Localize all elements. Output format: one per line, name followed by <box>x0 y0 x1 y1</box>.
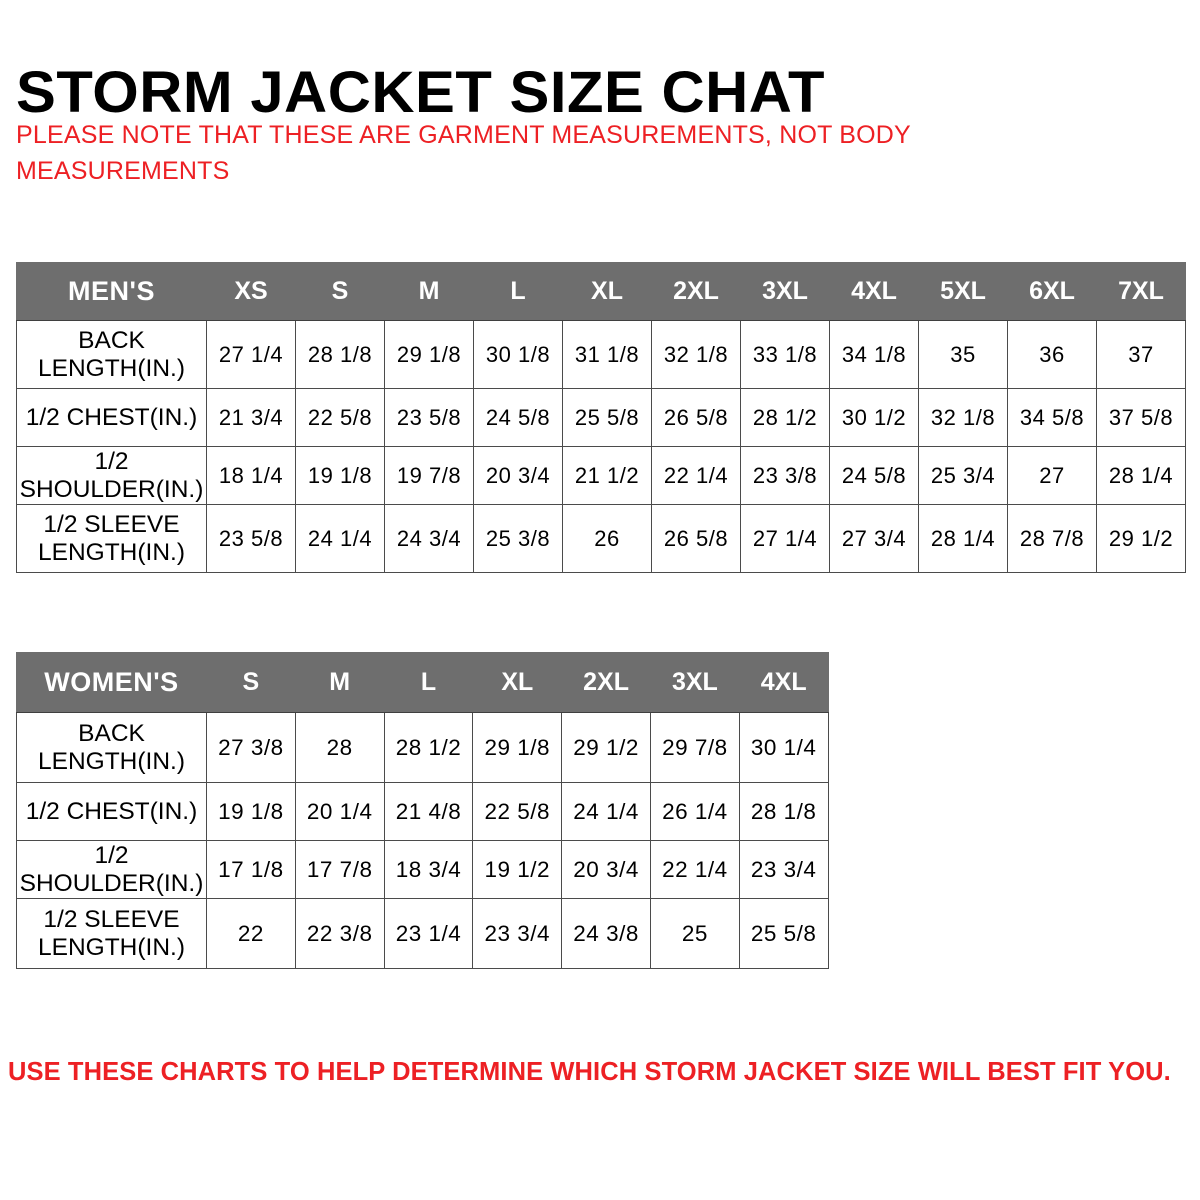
cell-value: 27 3/4 <box>830 505 919 573</box>
cell-value: 17 7/8 <box>295 841 384 899</box>
cell-value: 32 1/8 <box>919 389 1008 447</box>
cell-value: 20 3/4 <box>474 447 563 505</box>
cell-value: 29 7/8 <box>650 713 739 783</box>
column-header-4xl: 4XL <box>830 263 919 321</box>
row-label-half-sleeve-length: 1/2 SLEEVE LENGTH(IN.) <box>17 505 207 573</box>
column-header-3xl: 3XL <box>650 653 739 713</box>
mens-table-body: BACK LENGTH(IN.) 27 1/4 28 1/8 29 1/8 30… <box>17 321 1186 573</box>
cell-value: 27 1/4 <box>207 321 296 389</box>
table-header-row: WOMEN'S S M L XL 2XL 3XL 4XL <box>17 653 829 713</box>
column-header-xl: XL <box>473 653 562 713</box>
row-label-half-chest: 1/2 CHEST(IN.) <box>17 783 207 841</box>
column-header-l: L <box>474 263 563 321</box>
cell-value: 28 1/4 <box>919 505 1008 573</box>
cell-value: 35 <box>919 321 1008 389</box>
cell-value: 29 1/8 <box>473 713 562 783</box>
cell-value: 20 3/4 <box>562 841 651 899</box>
cell-value: 23 3/4 <box>739 841 828 899</box>
cell-value: 23 5/8 <box>385 389 474 447</box>
table-row: BACK LENGTH(IN.) 27 3/8 28 28 1/2 29 1/8… <box>17 713 829 783</box>
womens-size-table: WOMEN'S S M L XL 2XL 3XL 4XL BACK LENGTH… <box>16 652 829 969</box>
column-header-7xl: 7XL <box>1097 263 1186 321</box>
row-label-back-length: BACK LENGTH(IN.) <box>17 321 207 389</box>
cell-value: 28 1/8 <box>739 783 828 841</box>
cell-value: 30 1/2 <box>830 389 919 447</box>
cell-value: 17 1/8 <box>207 841 296 899</box>
cell-value: 33 1/8 <box>741 321 830 389</box>
cell-value: 22 3/8 <box>295 899 384 969</box>
cell-value: 24 3/4 <box>385 505 474 573</box>
cell-value: 30 1/8 <box>474 321 563 389</box>
table-row: 1/2 CHEST(IN.) 19 1/8 20 1/4 21 4/8 22 5… <box>17 783 829 841</box>
row-label-back-length: BACK LENGTH(IN.) <box>17 713 207 783</box>
cell-value: 29 1/2 <box>562 713 651 783</box>
cell-value: 23 1/4 <box>384 899 473 969</box>
column-header-xs: XS <box>207 263 296 321</box>
cell-value: 28 1/8 <box>296 321 385 389</box>
column-header-s: S <box>207 653 296 713</box>
cell-value: 27 <box>1008 447 1097 505</box>
page-title: STORM JACKET SIZE CHAT <box>16 63 825 124</box>
size-chart-page: STORM JACKET SIZE CHAT PLEASE NOTE THAT … <box>0 0 1200 1200</box>
cell-value: 26 <box>563 505 652 573</box>
cell-value: 25 5/8 <box>739 899 828 969</box>
cell-value: 25 <box>650 899 739 969</box>
cell-value: 26 5/8 <box>652 505 741 573</box>
cell-value: 19 1/8 <box>207 783 296 841</box>
cell-value: 21 3/4 <box>207 389 296 447</box>
cell-value: 27 1/4 <box>741 505 830 573</box>
cell-value: 26 1/4 <box>650 783 739 841</box>
cell-value: 18 3/4 <box>384 841 473 899</box>
table-row: 1/2 SHOULDER(IN.) 17 1/8 17 7/8 18 3/4 1… <box>17 841 829 899</box>
column-header-xl: XL <box>563 263 652 321</box>
cell-value: 24 1/4 <box>296 505 385 573</box>
column-header-4xl: 4XL <box>739 653 828 713</box>
cell-value: 36 <box>1008 321 1097 389</box>
table-row: 1/2 SLEEVE LENGTH(IN.) 23 5/8 24 1/4 24 … <box>17 505 1186 573</box>
usage-note: USE THESE CHARTS TO HELP DETERMINE WHICH… <box>8 1056 1168 1089</box>
cell-value: 37 5/8 <box>1097 389 1186 447</box>
cell-value: 24 1/4 <box>562 783 651 841</box>
cell-value: 28 1/2 <box>741 389 830 447</box>
cell-value: 31 1/8 <box>563 321 652 389</box>
mens-corner-label: MEN'S <box>17 263 207 321</box>
cell-value: 28 7/8 <box>1008 505 1097 573</box>
cell-value: 28 1/4 <box>1097 447 1186 505</box>
column-header-s: S <box>296 263 385 321</box>
cell-value: 24 3/8 <box>562 899 651 969</box>
cell-value: 22 1/4 <box>652 447 741 505</box>
mens-table-header: MEN'S XS S M L XL 2XL 3XL 4XL 5XL 6XL 7X… <box>17 263 1186 321</box>
womens-table-body: BACK LENGTH(IN.) 27 3/8 28 28 1/2 29 1/8… <box>17 713 829 969</box>
cell-value: 37 <box>1097 321 1186 389</box>
cell-value: 23 3/4 <box>473 899 562 969</box>
row-label-half-shoulder: 1/2 SHOULDER(IN.) <box>17 447 207 505</box>
cell-value: 28 1/2 <box>384 713 473 783</box>
cell-value: 29 1/2 <box>1097 505 1186 573</box>
column-header-m: M <box>295 653 384 713</box>
cell-value: 19 1/8 <box>296 447 385 505</box>
cell-value: 24 5/8 <box>830 447 919 505</box>
mens-size-table: MEN'S XS S M L XL 2XL 3XL 4XL 5XL 6XL 7X… <box>16 262 1186 573</box>
cell-value: 20 1/4 <box>295 783 384 841</box>
column-header-l: L <box>384 653 473 713</box>
table-row: BACK LENGTH(IN.) 27 1/4 28 1/8 29 1/8 30… <box>17 321 1186 389</box>
cell-value: 25 3/8 <box>474 505 563 573</box>
cell-value: 34 5/8 <box>1008 389 1097 447</box>
cell-value: 29 1/8 <box>385 321 474 389</box>
row-label-half-shoulder: 1/2 SHOULDER(IN.) <box>17 841 207 899</box>
column-header-m: M <box>385 263 474 321</box>
column-header-6xl: 6XL <box>1008 263 1097 321</box>
table-header-row: MEN'S XS S M L XL 2XL 3XL 4XL 5XL 6XL 7X… <box>17 263 1186 321</box>
cell-value: 26 5/8 <box>652 389 741 447</box>
cell-value: 28 <box>295 713 384 783</box>
row-label-half-sleeve-length: 1/2 SLEEVE LENGTH(IN.) <box>17 899 207 969</box>
womens-corner-label: WOMEN'S <box>17 653 207 713</box>
cell-value: 22 5/8 <box>473 783 562 841</box>
cell-value: 30 1/4 <box>739 713 828 783</box>
table-row: 1/2 CHEST(IN.) 21 3/4 22 5/8 23 5/8 24 5… <box>17 389 1186 447</box>
cell-value: 23 3/8 <box>741 447 830 505</box>
column-header-3xl: 3XL <box>741 263 830 321</box>
column-header-2xl: 2XL <box>652 263 741 321</box>
cell-value: 27 3/8 <box>207 713 296 783</box>
garment-measurement-note: PLEASE NOTE THAT THESE ARE GARMENT MEASU… <box>16 118 966 189</box>
cell-value: 25 5/8 <box>563 389 652 447</box>
cell-value: 24 5/8 <box>474 389 563 447</box>
row-label-half-chest: 1/2 CHEST(IN.) <box>17 389 207 447</box>
cell-value: 18 1/4 <box>207 447 296 505</box>
womens-table-header: WOMEN'S S M L XL 2XL 3XL 4XL <box>17 653 829 713</box>
cell-value: 32 1/8 <box>652 321 741 389</box>
cell-value: 19 7/8 <box>385 447 474 505</box>
cell-value: 22 1/4 <box>650 841 739 899</box>
cell-value: 23 5/8 <box>207 505 296 573</box>
cell-value: 21 1/2 <box>563 447 652 505</box>
cell-value: 19 1/2 <box>473 841 562 899</box>
cell-value: 22 5/8 <box>296 389 385 447</box>
table-row: 1/2 SHOULDER(IN.) 18 1/4 19 1/8 19 7/8 2… <box>17 447 1186 505</box>
cell-value: 25 3/4 <box>919 447 1008 505</box>
column-header-2xl: 2XL <box>562 653 651 713</box>
table-row: 1/2 SLEEVE LENGTH(IN.) 22 22 3/8 23 1/4 … <box>17 899 829 969</box>
cell-value: 22 <box>207 899 296 969</box>
cell-value: 34 1/8 <box>830 321 919 389</box>
column-header-5xl: 5XL <box>919 263 1008 321</box>
cell-value: 21 4/8 <box>384 783 473 841</box>
